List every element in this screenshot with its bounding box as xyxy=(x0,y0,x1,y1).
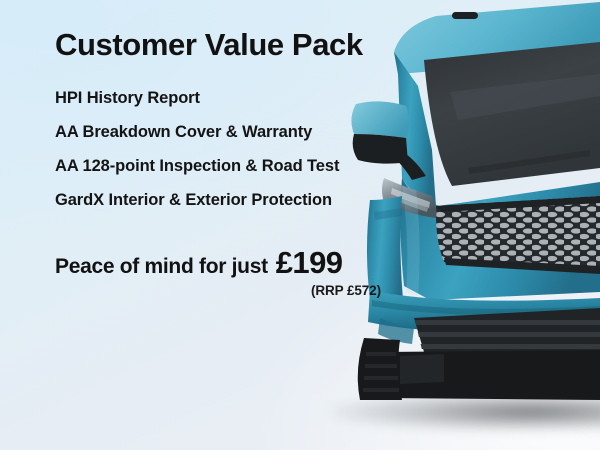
promo-copy: Customer Value Pack HPI History Report A… xyxy=(55,28,435,298)
roof-antenna xyxy=(452,12,478,19)
page-title: Customer Value Pack xyxy=(55,28,435,63)
list-item: AA Breakdown Cover & Warranty xyxy=(55,123,435,141)
lower-grille-slats xyxy=(414,320,600,349)
customer-value-pack-card: Customer Value Pack HPI History Report A… xyxy=(0,0,600,450)
price-lead-text: Peace of mind for just xyxy=(55,255,268,279)
list-item: GardX Interior & Exterior Protection xyxy=(55,191,435,209)
rrp-text: (RRP £572) xyxy=(55,283,381,298)
valance-tab xyxy=(400,354,444,384)
list-item: HPI History Report xyxy=(55,89,435,107)
feature-list: HPI History Report AA Breakdown Cover & … xyxy=(55,89,435,210)
price-line: Peace of mind for just £199 xyxy=(55,245,435,281)
price-block: Peace of mind for just £199 (RRP £572) xyxy=(55,245,435,298)
price-amount: £199 xyxy=(276,245,343,281)
list-item: AA 128-point Inspection & Road Test xyxy=(55,157,435,175)
